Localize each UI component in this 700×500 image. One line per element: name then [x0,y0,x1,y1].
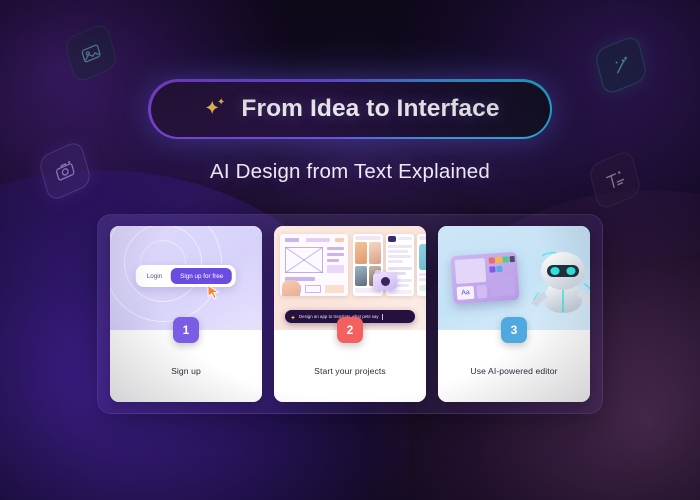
robot-icon [520,242,590,328]
step-card-1[interactable]: Login Sign up for free 1 Sign up [110,226,262,402]
step-3-artwork: Aa [438,226,590,330]
title-pill-inner: From Idea to Interface [151,82,550,137]
step-2-artwork: Design an app to translate what pets say [274,226,426,330]
camera-token-icon [373,272,397,290]
text-caret [382,314,383,320]
step-3-label: Use AI-powered editor [470,366,557,376]
login-button[interactable]: Login [140,269,169,284]
sparkle-icon [200,94,230,124]
magic-wand-icon [594,34,648,96]
signup-button[interactable]: Sign up for free [171,268,232,284]
pet-post-thumbnail [417,234,426,296]
step-card-2[interactable]: Design an app to translate what pets say… [274,226,426,402]
step-card-3[interactable]: Aa [438,226,590,402]
step-3-badge: 3 [501,317,527,343]
image-icon [63,22,118,84]
page-subtitle: AI Design from Text Explained [0,160,700,184]
step-1-label: Sign up [171,366,201,376]
design-editor-icon: Aa [450,252,519,304]
cursor-arrow-icon [206,284,221,306]
hero-banner: From Idea to Interface AI Design from Te… [0,0,700,500]
page-title: From Idea to Interface [241,95,499,123]
step-2-badge: 2 [337,317,363,343]
auth-button-group: Login Sign up for free [136,265,236,287]
step-1-badge: 1 [173,317,199,343]
title-pill: From Idea to Interface [148,79,552,139]
step-2-label: Start your projects [314,366,386,376]
step-1-artwork: Login Sign up for free [110,226,262,330]
steps-panel: Login Sign up for free 1 Sign up [97,214,603,414]
wireframe-sketch-thumbnail [280,234,348,296]
sparkle-icon [290,308,296,326]
